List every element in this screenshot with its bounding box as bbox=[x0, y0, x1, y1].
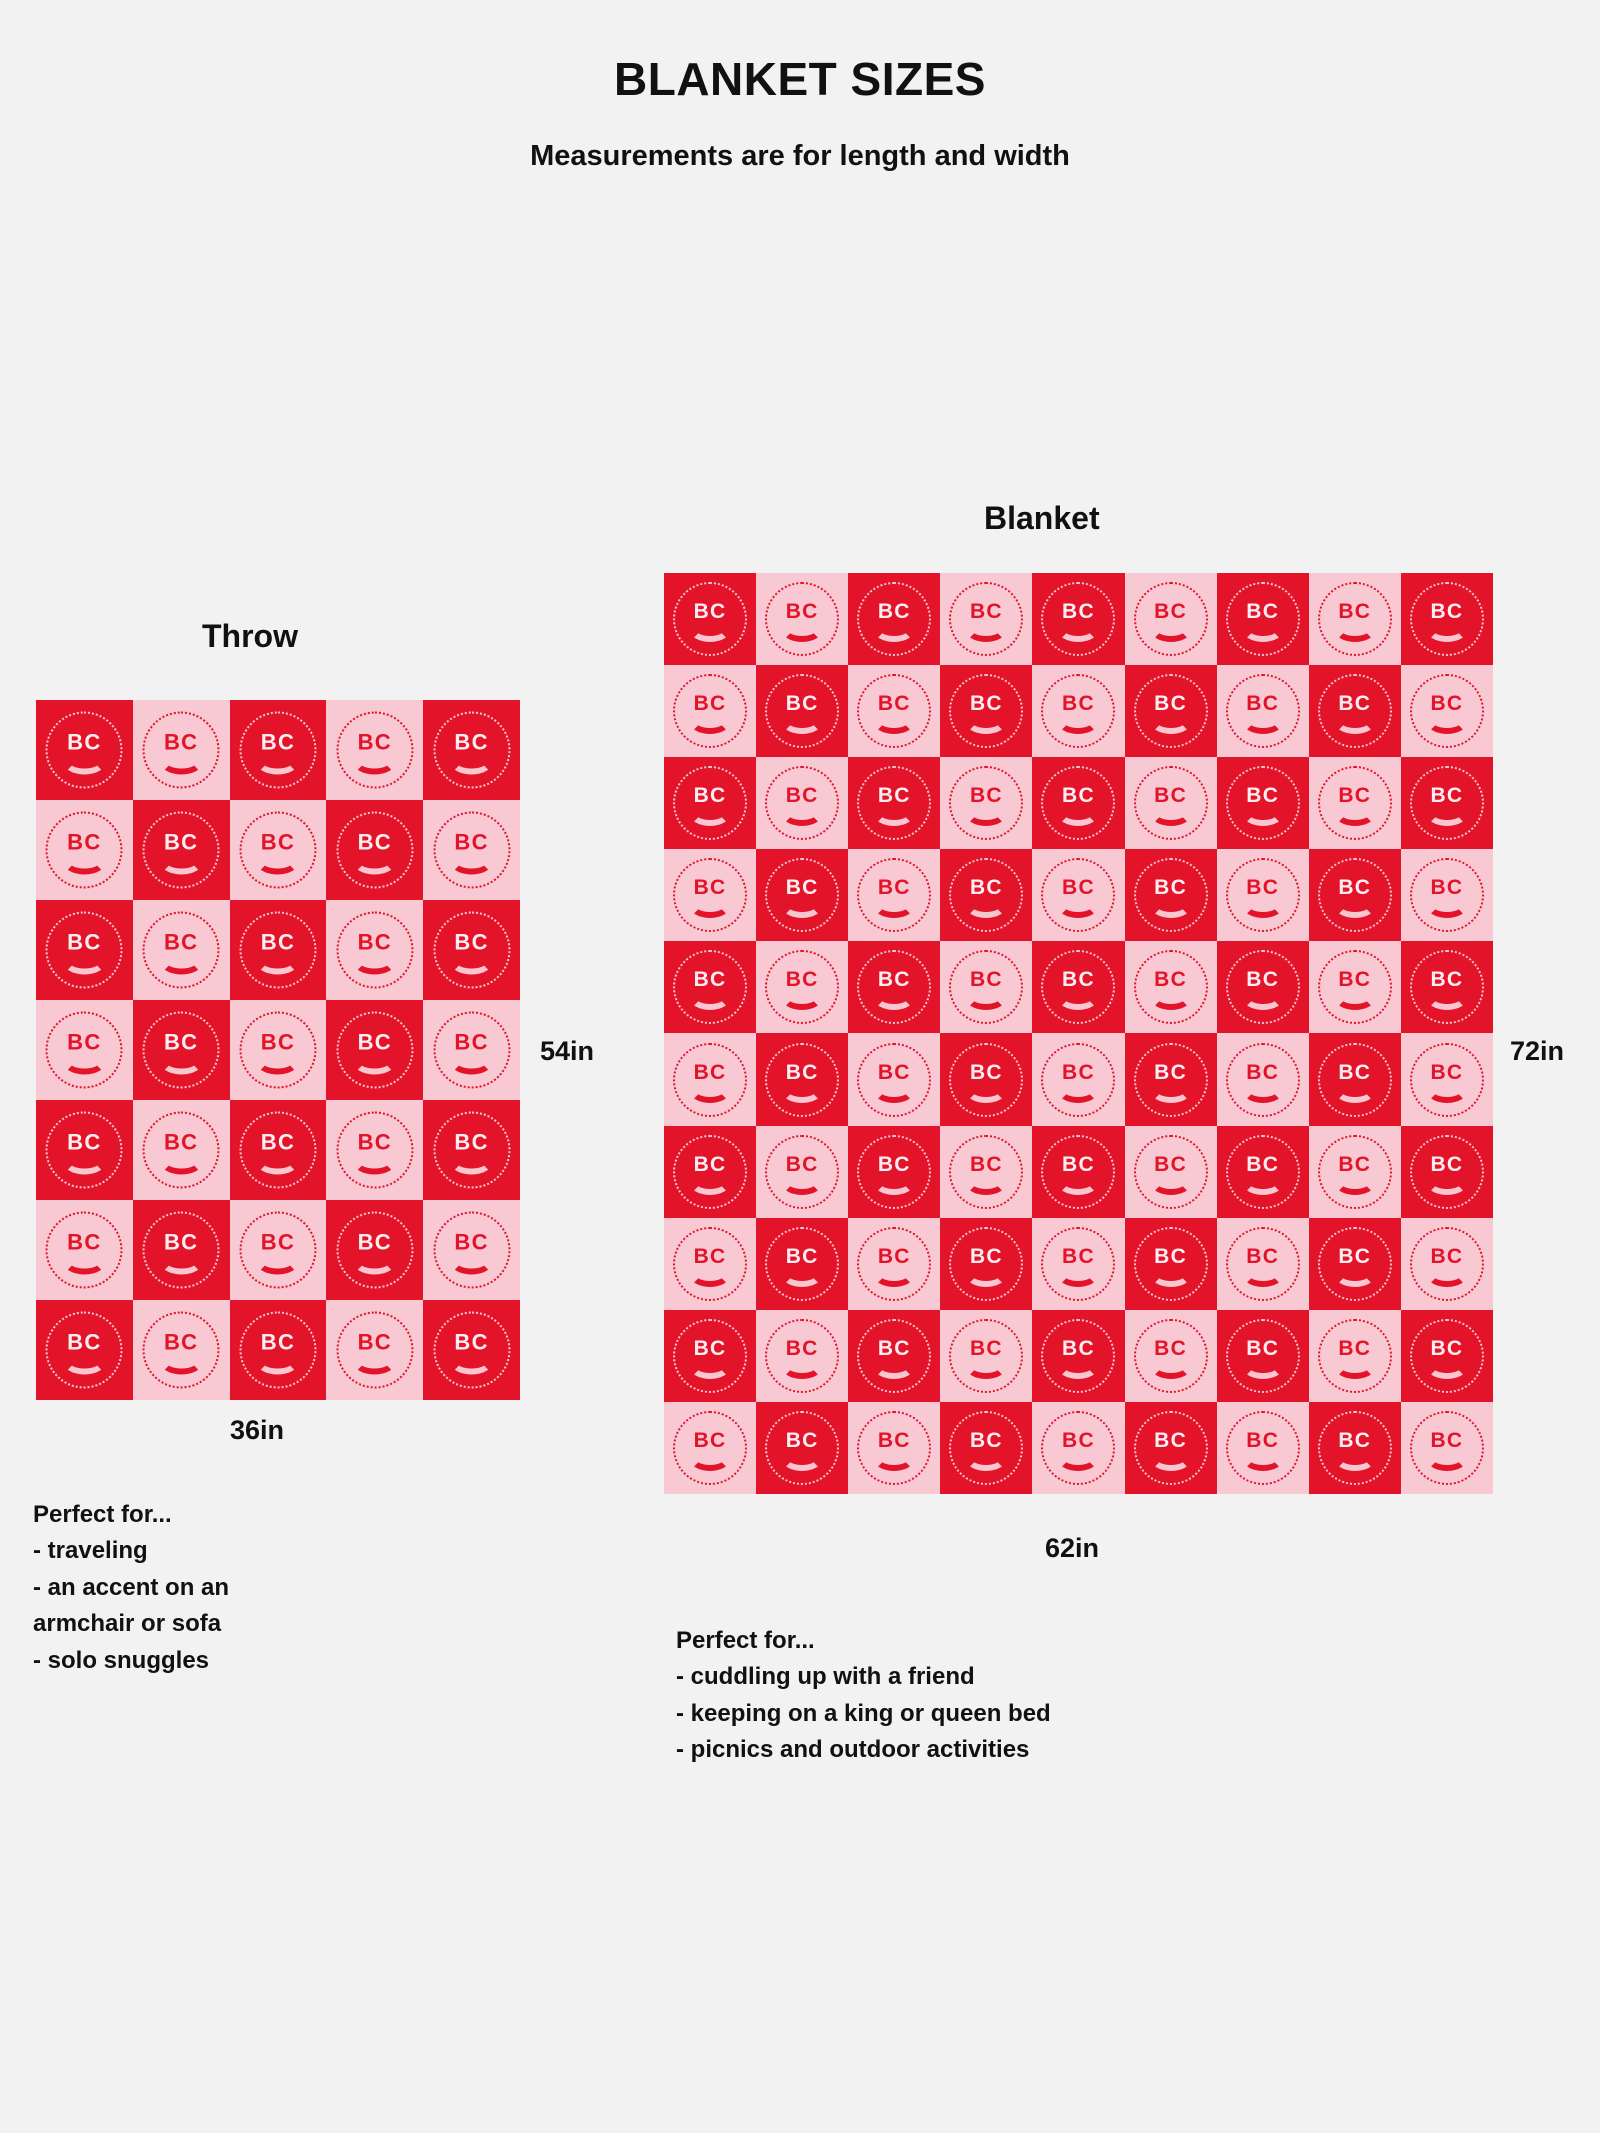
swatch-cell: BC bbox=[326, 1100, 423, 1200]
smiley-face-icon: BC bbox=[1226, 1411, 1300, 1485]
smiley-face-icon: BC bbox=[46, 812, 123, 889]
smiley-face-icon: BC bbox=[765, 674, 839, 748]
swatch-cell: BC bbox=[230, 1000, 327, 1100]
swatch-cell: BC bbox=[1309, 941, 1401, 1033]
page-title: BLANKET SIZES bbox=[0, 52, 1600, 106]
smile-arc-icon bbox=[1242, 1262, 1283, 1287]
smile-arc-icon bbox=[353, 749, 396, 775]
swatch-cell: BC bbox=[1125, 1126, 1217, 1218]
swatch-cell: BC bbox=[230, 1300, 327, 1400]
smiley-face-icon: BC bbox=[1318, 1227, 1392, 1301]
smile-arc-icon bbox=[966, 709, 1007, 734]
smiley-face-icon: BC bbox=[46, 912, 123, 989]
swatch-cell: BC bbox=[940, 757, 1032, 849]
smile-arc-icon bbox=[160, 749, 203, 775]
smiley-face-icon: BC bbox=[1134, 1227, 1208, 1301]
smiley-face-icon: BC bbox=[239, 1312, 316, 1389]
swatch-cell: BC bbox=[664, 757, 756, 849]
smiley-face-icon: BC bbox=[1041, 858, 1115, 932]
smile-arc-icon bbox=[782, 1262, 823, 1287]
smile-arc-icon bbox=[1334, 709, 1375, 734]
blanket-perfect-for-heading: Perfect for... bbox=[676, 1623, 1376, 1659]
swatch-cell: BC bbox=[133, 1200, 230, 1300]
smile-arc-icon bbox=[63, 1349, 106, 1375]
smiley-face-icon: BC bbox=[1226, 1043, 1300, 1117]
swatch-cell: BC bbox=[848, 849, 940, 941]
smile-arc-icon bbox=[1334, 617, 1375, 642]
smile-arc-icon bbox=[63, 1049, 106, 1075]
swatch-cell: BC bbox=[1125, 757, 1217, 849]
swatch-cell: BC bbox=[1217, 665, 1309, 757]
smiley-face-icon: BC bbox=[433, 1312, 510, 1389]
smiley-face-icon: BC bbox=[336, 712, 413, 789]
smiley-face-icon: BC bbox=[46, 712, 123, 789]
smile-arc-icon bbox=[1426, 1262, 1467, 1287]
smile-arc-icon bbox=[782, 617, 823, 642]
smiley-face-icon: BC bbox=[765, 858, 839, 932]
smile-arc-icon bbox=[782, 801, 823, 826]
smiley-face-icon: BC bbox=[1318, 1043, 1392, 1117]
smiley-face-icon: BC bbox=[433, 1012, 510, 1089]
smile-arc-icon bbox=[874, 709, 915, 734]
smile-arc-icon bbox=[966, 1446, 1007, 1471]
smile-arc-icon bbox=[782, 893, 823, 918]
smiley-face-icon: BC bbox=[857, 1227, 931, 1301]
swatch-cell: BC bbox=[326, 1200, 423, 1300]
smile-arc-icon bbox=[160, 1349, 203, 1375]
smiley-face-icon: BC bbox=[1410, 582, 1484, 656]
throw-perfect-for-heading: Perfect for... bbox=[33, 1497, 413, 1533]
smile-arc-icon bbox=[353, 1249, 396, 1275]
swatch-cell: BC bbox=[1032, 1402, 1124, 1494]
smile-arc-icon bbox=[690, 709, 731, 734]
smiley-face-icon: BC bbox=[1318, 766, 1392, 840]
smile-arc-icon bbox=[160, 849, 203, 875]
smile-arc-icon bbox=[450, 1349, 493, 1375]
smiley-face-icon: BC bbox=[1134, 1411, 1208, 1485]
smiley-face-icon: BC bbox=[673, 1227, 747, 1301]
swatch-cell: BC bbox=[1309, 1402, 1401, 1494]
smiley-face-icon: BC bbox=[857, 674, 931, 748]
smiley-face-icon: BC bbox=[143, 712, 220, 789]
smiley-face-icon: BC bbox=[1041, 1135, 1115, 1209]
smile-arc-icon bbox=[1426, 1354, 1467, 1379]
smile-arc-icon bbox=[874, 617, 915, 642]
smiley-face-icon: BC bbox=[46, 1112, 123, 1189]
smile-arc-icon bbox=[1426, 1446, 1467, 1471]
throw-perfect-for-item: armchair or sofa bbox=[33, 1606, 413, 1642]
blanket-height-label: 72in bbox=[1510, 1036, 1564, 1067]
swatch-cell: BC bbox=[1401, 1218, 1493, 1310]
swatch-cell: BC bbox=[1125, 1218, 1217, 1310]
swatch-cell: BC bbox=[664, 1033, 756, 1125]
smile-arc-icon bbox=[160, 1149, 203, 1175]
swatch-cell: BC bbox=[1401, 849, 1493, 941]
smiley-face-icon: BC bbox=[1041, 1227, 1115, 1301]
swatch-cell: BC bbox=[1217, 573, 1309, 665]
swatch-cell: BC bbox=[230, 1200, 327, 1300]
smile-arc-icon bbox=[966, 985, 1007, 1010]
smiley-face-icon: BC bbox=[1134, 1043, 1208, 1117]
smiley-face-icon: BC bbox=[1410, 950, 1484, 1024]
smile-arc-icon bbox=[690, 893, 731, 918]
smiley-face-icon: BC bbox=[949, 1319, 1023, 1393]
smiley-face-icon: BC bbox=[143, 1212, 220, 1289]
swatch-cell: BC bbox=[940, 573, 1032, 665]
swatch-cell: BC bbox=[133, 800, 230, 900]
swatch-cell: BC bbox=[133, 1000, 230, 1100]
smiley-face-icon: BC bbox=[949, 1227, 1023, 1301]
smile-arc-icon bbox=[353, 1349, 396, 1375]
smile-arc-icon bbox=[690, 1262, 731, 1287]
swatch-cell: BC bbox=[1032, 665, 1124, 757]
smiley-face-icon: BC bbox=[949, 1411, 1023, 1485]
smiley-face-icon: BC bbox=[765, 1411, 839, 1485]
smiley-face-icon: BC bbox=[143, 812, 220, 889]
smile-arc-icon bbox=[874, 1354, 915, 1379]
smile-arc-icon bbox=[966, 893, 1007, 918]
smile-arc-icon bbox=[1150, 617, 1191, 642]
smiley-face-icon: BC bbox=[1410, 858, 1484, 932]
swatch-cell: BC bbox=[1125, 573, 1217, 665]
smiley-face-icon: BC bbox=[949, 858, 1023, 932]
smile-arc-icon bbox=[63, 949, 106, 975]
smile-arc-icon bbox=[966, 801, 1007, 826]
smiley-face-icon: BC bbox=[765, 1227, 839, 1301]
smiley-face-icon: BC bbox=[1134, 582, 1208, 656]
swatch-cell: BC bbox=[940, 1126, 1032, 1218]
smile-arc-icon bbox=[1242, 893, 1283, 918]
smile-arc-icon bbox=[1426, 1078, 1467, 1103]
smile-arc-icon bbox=[1058, 1354, 1099, 1379]
smiley-face-icon: BC bbox=[949, 950, 1023, 1024]
swatch-cell: BC bbox=[1309, 1218, 1401, 1310]
swatch-cell: BC bbox=[423, 1100, 520, 1200]
blanket-perfect-for-item: - keeping on a king or queen bed bbox=[676, 1696, 1376, 1732]
swatch-cell: BC bbox=[664, 1126, 756, 1218]
smile-arc-icon bbox=[1150, 801, 1191, 826]
swatch-cell: BC bbox=[1309, 757, 1401, 849]
smiley-face-icon: BC bbox=[1041, 1411, 1115, 1485]
smile-arc-icon bbox=[450, 1149, 493, 1175]
smile-arc-icon bbox=[874, 801, 915, 826]
swatch-cell: BC bbox=[1217, 1033, 1309, 1125]
smiley-face-icon: BC bbox=[46, 1212, 123, 1289]
swatch-cell: BC bbox=[1032, 757, 1124, 849]
smiley-face-icon: BC bbox=[336, 812, 413, 889]
swatch-cell: BC bbox=[848, 573, 940, 665]
smiley-face-icon: BC bbox=[1134, 1319, 1208, 1393]
smiley-face-icon: BC bbox=[46, 1312, 123, 1389]
smile-arc-icon bbox=[450, 1049, 493, 1075]
smile-arc-icon bbox=[782, 709, 823, 734]
smiley-face-icon: BC bbox=[239, 912, 316, 989]
smile-arc-icon bbox=[782, 1170, 823, 1195]
smile-arc-icon bbox=[1242, 985, 1283, 1010]
swatch-cell: BC bbox=[1032, 1126, 1124, 1218]
swatch-cell: BC bbox=[848, 1033, 940, 1125]
smiley-face-icon: BC bbox=[1318, 1135, 1392, 1209]
smiley-face-icon: BC bbox=[143, 912, 220, 989]
smiley-face-icon: BC bbox=[949, 766, 1023, 840]
smile-arc-icon bbox=[1058, 893, 1099, 918]
smile-arc-icon bbox=[1150, 985, 1191, 1010]
smiley-face-icon: BC bbox=[673, 582, 747, 656]
smiley-face-icon: BC bbox=[1318, 858, 1392, 932]
smiley-face-icon: BC bbox=[765, 582, 839, 656]
smiley-face-icon: BC bbox=[336, 912, 413, 989]
smile-arc-icon bbox=[1150, 893, 1191, 918]
swatch-cell: BC bbox=[848, 941, 940, 1033]
swatch-cell: BC bbox=[1401, 941, 1493, 1033]
smiley-face-icon: BC bbox=[1226, 766, 1300, 840]
swatch-cell: BC bbox=[664, 665, 756, 757]
smile-arc-icon bbox=[63, 1149, 106, 1175]
smiley-face-icon: BC bbox=[239, 1012, 316, 1089]
smiley-face-icon: BC bbox=[673, 766, 747, 840]
swatch-cell: BC bbox=[756, 1033, 848, 1125]
smile-arc-icon bbox=[690, 985, 731, 1010]
swatch-cell: BC bbox=[756, 1402, 848, 1494]
smile-arc-icon bbox=[690, 1170, 731, 1195]
swatch-cell: BC bbox=[1401, 1126, 1493, 1218]
swatch-cell: BC bbox=[1401, 665, 1493, 757]
swatch-cell: BC bbox=[1217, 1310, 1309, 1402]
swatch-cell: BC bbox=[36, 1200, 133, 1300]
swatch-cell: BC bbox=[1401, 1310, 1493, 1402]
throw-perfect-for-item: - an accent on an bbox=[33, 1570, 413, 1606]
smile-arc-icon bbox=[690, 1078, 731, 1103]
smiley-face-icon: BC bbox=[673, 858, 747, 932]
swatch-cell: BC bbox=[664, 1218, 756, 1310]
smile-arc-icon bbox=[1242, 1446, 1283, 1471]
smiley-face-icon: BC bbox=[239, 712, 316, 789]
swatch-cell: BC bbox=[940, 1033, 1032, 1125]
smile-arc-icon bbox=[1242, 801, 1283, 826]
swatch-cell: BC bbox=[1401, 757, 1493, 849]
smile-arc-icon bbox=[690, 1446, 731, 1471]
throw-perfect-for: Perfect for... - traveling - an accent o… bbox=[33, 1497, 413, 1679]
smile-arc-icon bbox=[1058, 1446, 1099, 1471]
swatch-cell: BC bbox=[423, 700, 520, 800]
smiley-face-icon: BC bbox=[857, 766, 931, 840]
swatch-cell: BC bbox=[1125, 941, 1217, 1033]
swatch-cell: BC bbox=[1125, 1033, 1217, 1125]
smile-arc-icon bbox=[160, 1049, 203, 1075]
page-subtitle: Measurements are for length and width bbox=[0, 140, 1600, 173]
swatch-cell: BC bbox=[36, 700, 133, 800]
swatch-cell: BC bbox=[326, 1000, 423, 1100]
throw-height-label: 54in bbox=[540, 1036, 594, 1067]
smile-arc-icon bbox=[966, 1262, 1007, 1287]
smile-arc-icon bbox=[353, 1149, 396, 1175]
smiley-face-icon: BC bbox=[143, 1012, 220, 1089]
swatch-cell: BC bbox=[326, 700, 423, 800]
smiley-face-icon: BC bbox=[673, 674, 747, 748]
smile-arc-icon bbox=[1426, 893, 1467, 918]
swatch-cell: BC bbox=[940, 1310, 1032, 1402]
smiley-face-icon: BC bbox=[1226, 858, 1300, 932]
smile-arc-icon bbox=[782, 985, 823, 1010]
smiley-face-icon: BC bbox=[1041, 674, 1115, 748]
smiley-face-icon: BC bbox=[239, 812, 316, 889]
swatch-cell: BC bbox=[36, 1300, 133, 1400]
swatch-cell: BC bbox=[756, 1126, 848, 1218]
swatch-cell: BC bbox=[756, 573, 848, 665]
swatch-cell: BC bbox=[1032, 573, 1124, 665]
smile-arc-icon bbox=[1058, 1170, 1099, 1195]
smiley-face-icon: BC bbox=[857, 1319, 931, 1393]
smile-arc-icon bbox=[966, 1170, 1007, 1195]
smile-arc-icon bbox=[1150, 1262, 1191, 1287]
smile-arc-icon bbox=[782, 1446, 823, 1471]
smiley-face-icon: BC bbox=[433, 1212, 510, 1289]
smiley-face-icon: BC bbox=[1226, 1319, 1300, 1393]
smile-arc-icon bbox=[874, 893, 915, 918]
smiley-face-icon: BC bbox=[433, 1112, 510, 1189]
swatch-cell: BC bbox=[940, 1402, 1032, 1494]
smile-arc-icon bbox=[160, 1249, 203, 1275]
smiley-face-icon: BC bbox=[1410, 1135, 1484, 1209]
smiley-face-icon: BC bbox=[1226, 1227, 1300, 1301]
swatch-cell: BC bbox=[326, 1300, 423, 1400]
smile-arc-icon bbox=[782, 1078, 823, 1103]
smile-arc-icon bbox=[450, 949, 493, 975]
swatch-cell: BC bbox=[848, 1310, 940, 1402]
swatch-cell: BC bbox=[940, 849, 1032, 941]
smiley-face-icon: BC bbox=[857, 582, 931, 656]
swatch-cell: BC bbox=[1032, 849, 1124, 941]
smile-arc-icon bbox=[1242, 1354, 1283, 1379]
swatch-cell: BC bbox=[848, 1126, 940, 1218]
swatch-cell: BC bbox=[1032, 1033, 1124, 1125]
swatch-cell: BC bbox=[1217, 1402, 1309, 1494]
smiley-face-icon: BC bbox=[433, 712, 510, 789]
swatch-cell: BC bbox=[756, 1310, 848, 1402]
smiley-face-icon: BC bbox=[765, 1135, 839, 1209]
smile-arc-icon bbox=[874, 1078, 915, 1103]
throw-perfect-for-item: - traveling bbox=[33, 1533, 413, 1569]
smile-arc-icon bbox=[1334, 1354, 1375, 1379]
blanket-label: Blanket bbox=[984, 500, 1100, 537]
swatch-cell: BC bbox=[756, 941, 848, 1033]
swatch-cell: BC bbox=[1032, 1218, 1124, 1310]
smile-arc-icon bbox=[256, 1249, 299, 1275]
smiley-face-icon: BC bbox=[949, 582, 1023, 656]
smiley-face-icon: BC bbox=[1410, 1411, 1484, 1485]
smile-arc-icon bbox=[1058, 801, 1099, 826]
smile-arc-icon bbox=[690, 617, 731, 642]
smile-arc-icon bbox=[1334, 1262, 1375, 1287]
swatch-cell: BC bbox=[1032, 941, 1124, 1033]
smile-arc-icon bbox=[63, 749, 106, 775]
smiley-face-icon: BC bbox=[1134, 858, 1208, 932]
smiley-face-icon: BC bbox=[1134, 1135, 1208, 1209]
swatch-cell: BC bbox=[133, 900, 230, 1000]
smiley-face-icon: BC bbox=[336, 1112, 413, 1189]
smile-arc-icon bbox=[1058, 985, 1099, 1010]
swatch-cell: BC bbox=[423, 1300, 520, 1400]
smile-arc-icon bbox=[1334, 1446, 1375, 1471]
smile-arc-icon bbox=[1242, 709, 1283, 734]
swatch-cell: BC bbox=[756, 849, 848, 941]
smiley-face-icon: BC bbox=[857, 1411, 931, 1485]
swatch-cell: BC bbox=[133, 700, 230, 800]
smiley-face-icon: BC bbox=[1041, 1319, 1115, 1393]
smiley-face-icon: BC bbox=[949, 1135, 1023, 1209]
swatch-cell: BC bbox=[1401, 1033, 1493, 1125]
smiley-face-icon: BC bbox=[1226, 1135, 1300, 1209]
swatch-cell: BC bbox=[326, 900, 423, 1000]
swatch-cell: BC bbox=[1309, 1033, 1401, 1125]
smile-arc-icon bbox=[874, 1170, 915, 1195]
smiley-face-icon: BC bbox=[673, 1135, 747, 1209]
smile-arc-icon bbox=[874, 1262, 915, 1287]
smile-arc-icon bbox=[1150, 709, 1191, 734]
smile-arc-icon bbox=[1150, 1170, 1191, 1195]
smiley-face-icon: BC bbox=[1041, 1043, 1115, 1117]
smiley-face-icon: BC bbox=[1134, 674, 1208, 748]
smiley-face-icon: BC bbox=[336, 1012, 413, 1089]
swatch-cell: BC bbox=[1309, 1126, 1401, 1218]
smiley-face-icon: BC bbox=[765, 1319, 839, 1393]
smile-arc-icon bbox=[256, 749, 299, 775]
swatch-cell: BC bbox=[848, 757, 940, 849]
smile-arc-icon bbox=[1242, 1078, 1283, 1103]
smile-arc-icon bbox=[1058, 617, 1099, 642]
swatch-cell: BC bbox=[664, 1402, 756, 1494]
blanket-perfect-for: Perfect for... - cuddling up with a frie… bbox=[676, 1623, 1376, 1769]
smile-arc-icon bbox=[782, 1354, 823, 1379]
smile-arc-icon bbox=[353, 1049, 396, 1075]
smiley-face-icon: BC bbox=[765, 766, 839, 840]
smile-arc-icon bbox=[1242, 617, 1283, 642]
swatch-cell: BC bbox=[664, 573, 756, 665]
smile-arc-icon bbox=[966, 1354, 1007, 1379]
swatch-cell: BC bbox=[230, 900, 327, 1000]
smiley-face-icon: BC bbox=[673, 1319, 747, 1393]
smiley-face-icon: BC bbox=[1226, 950, 1300, 1024]
throw-blanket-swatch: BCBCBCBCBCBCBCBCBCBCBCBCBCBCBCBCBCBCBCBC… bbox=[36, 700, 520, 1400]
smile-arc-icon bbox=[1426, 801, 1467, 826]
smiley-face-icon: BC bbox=[143, 1112, 220, 1189]
swatch-cell: BC bbox=[848, 665, 940, 757]
smile-arc-icon bbox=[256, 1149, 299, 1175]
smile-arc-icon bbox=[1334, 801, 1375, 826]
throw-perfect-for-item: - solo snuggles bbox=[33, 1643, 413, 1679]
swatch-cell: BC bbox=[1125, 849, 1217, 941]
blanket-perfect-for-item: - cuddling up with a friend bbox=[676, 1659, 1376, 1695]
smile-arc-icon bbox=[1242, 1170, 1283, 1195]
smile-arc-icon bbox=[63, 849, 106, 875]
swatch-cell: BC bbox=[1401, 1402, 1493, 1494]
smiley-face-icon: BC bbox=[857, 858, 931, 932]
swatch-cell: BC bbox=[940, 665, 1032, 757]
swatch-cell: BC bbox=[1217, 1218, 1309, 1310]
smile-arc-icon bbox=[1334, 1078, 1375, 1103]
swatch-cell: BC bbox=[1032, 1310, 1124, 1402]
smiley-face-icon: BC bbox=[673, 1411, 747, 1485]
swatch-cell: BC bbox=[230, 1100, 327, 1200]
blanket-sizes-page: BLANKET SIZES Measurements are for lengt… bbox=[0, 0, 1600, 2133]
swatch-cell: BC bbox=[1217, 1126, 1309, 1218]
smiley-face-icon: BC bbox=[857, 1135, 931, 1209]
smile-arc-icon bbox=[1426, 709, 1467, 734]
smiley-face-icon: BC bbox=[1410, 1043, 1484, 1117]
swatch-cell: BC bbox=[423, 800, 520, 900]
swatch-cell: BC bbox=[664, 941, 756, 1033]
smiley-face-icon: BC bbox=[239, 1112, 316, 1189]
